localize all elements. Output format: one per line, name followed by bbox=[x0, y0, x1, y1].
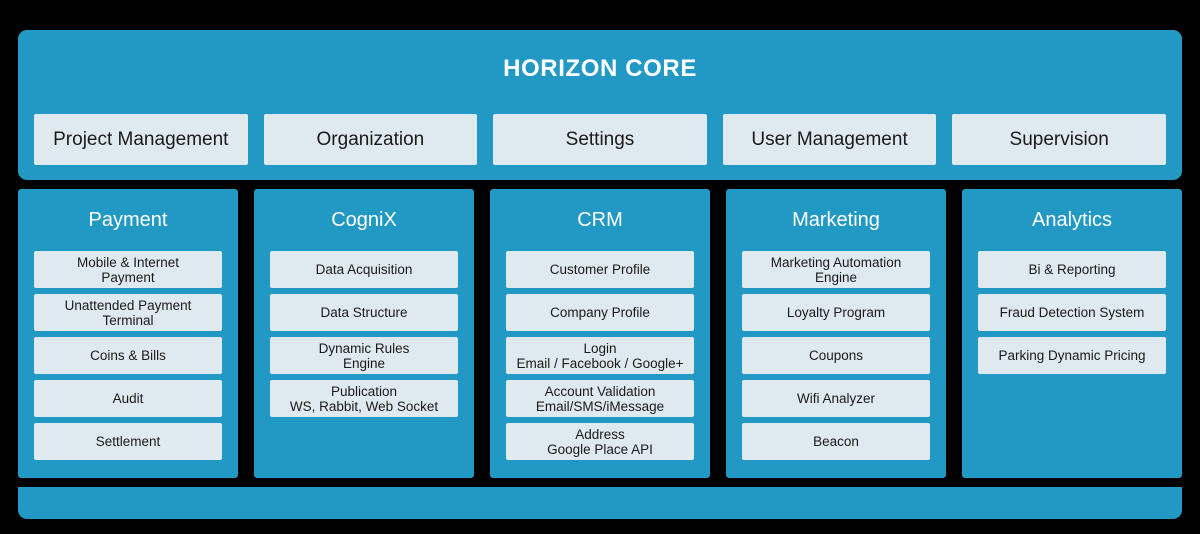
tab-supervision[interactable]: Supervision bbox=[952, 114, 1166, 165]
tab-label: Project Management bbox=[53, 129, 228, 151]
column-title: Marketing bbox=[742, 189, 930, 251]
list-item[interactable]: Settlement bbox=[34, 423, 222, 460]
horizon-core-diagram: HORIZON CORE Project Management Organiza… bbox=[0, 0, 1200, 534]
bottom-bar bbox=[18, 487, 1182, 519]
list-item[interactable]: Beacon bbox=[742, 423, 930, 460]
list-item[interactable]: Customer Profile bbox=[506, 251, 694, 288]
list-item[interactable]: Account Validation Email/SMS/iMessage bbox=[506, 380, 694, 417]
column-item-list: Mobile & Internet Payment Unattended Pay… bbox=[34, 251, 222, 460]
tab-label: User Management bbox=[751, 129, 907, 151]
list-item[interactable]: Publication WS, Rabbit, Web Socket bbox=[270, 380, 458, 417]
list-item[interactable]: Unattended Payment Terminal bbox=[34, 294, 222, 331]
tab-user-management[interactable]: User Management bbox=[723, 114, 937, 165]
module-column-crm: CRM Customer Profile Company Profile Log… bbox=[490, 189, 710, 478]
column-title: Analytics bbox=[978, 189, 1166, 251]
list-item[interactable]: Wifi Analyzer bbox=[742, 380, 930, 417]
header-panel: HORIZON CORE Project Management Organiza… bbox=[18, 30, 1182, 180]
list-item[interactable]: Address Google Place API bbox=[506, 423, 694, 460]
list-item[interactable]: Marketing Automation Engine bbox=[742, 251, 930, 288]
list-item[interactable]: Bi & Reporting bbox=[978, 251, 1166, 288]
column-item-list: Marketing Automation Engine Loyalty Prog… bbox=[742, 251, 930, 460]
module-column-cognix: CogniX Data Acquisition Data Structure D… bbox=[254, 189, 474, 478]
column-item-list: Bi & Reporting Fraud Detection System Pa… bbox=[978, 251, 1166, 374]
list-item[interactable]: Audit bbox=[34, 380, 222, 417]
list-item[interactable]: Login Email / Facebook / Google+ bbox=[506, 337, 694, 374]
module-column-row: Payment Mobile & Internet Payment Unatte… bbox=[18, 189, 1182, 478]
module-column-payment: Payment Mobile & Internet Payment Unatte… bbox=[18, 189, 238, 478]
column-item-list: Customer Profile Company Profile Login E… bbox=[506, 251, 694, 460]
column-title: CRM bbox=[506, 189, 694, 251]
tab-label: Settings bbox=[566, 129, 635, 151]
list-item[interactable]: Fraud Detection System bbox=[978, 294, 1166, 331]
tab-project-management[interactable]: Project Management bbox=[34, 114, 248, 165]
module-column-marketing: Marketing Marketing Automation Engine Lo… bbox=[726, 189, 946, 478]
column-title: CogniX bbox=[270, 189, 458, 251]
list-item[interactable]: Coins & Bills bbox=[34, 337, 222, 374]
list-item[interactable]: Loyalty Program bbox=[742, 294, 930, 331]
page-title: HORIZON CORE bbox=[18, 30, 1182, 108]
tab-label: Organization bbox=[317, 129, 425, 151]
module-column-analytics: Analytics Bi & Reporting Fraud Detection… bbox=[962, 189, 1182, 478]
tab-label: Supervision bbox=[1010, 129, 1109, 151]
list-item[interactable]: Mobile & Internet Payment bbox=[34, 251, 222, 288]
header-tab-list: Project Management Organization Settings… bbox=[34, 114, 1166, 165]
tab-organization[interactable]: Organization bbox=[264, 114, 478, 165]
tab-settings[interactable]: Settings bbox=[493, 114, 707, 165]
list-item[interactable]: Dynamic Rules Engine bbox=[270, 337, 458, 374]
column-title: Payment bbox=[34, 189, 222, 251]
list-item[interactable]: Company Profile bbox=[506, 294, 694, 331]
column-item-list: Data Acquisition Data Structure Dynamic … bbox=[270, 251, 458, 417]
list-item[interactable]: Data Structure bbox=[270, 294, 458, 331]
list-item[interactable]: Parking Dynamic Pricing bbox=[978, 337, 1166, 374]
list-item[interactable]: Data Acquisition bbox=[270, 251, 458, 288]
list-item[interactable]: Coupons bbox=[742, 337, 930, 374]
